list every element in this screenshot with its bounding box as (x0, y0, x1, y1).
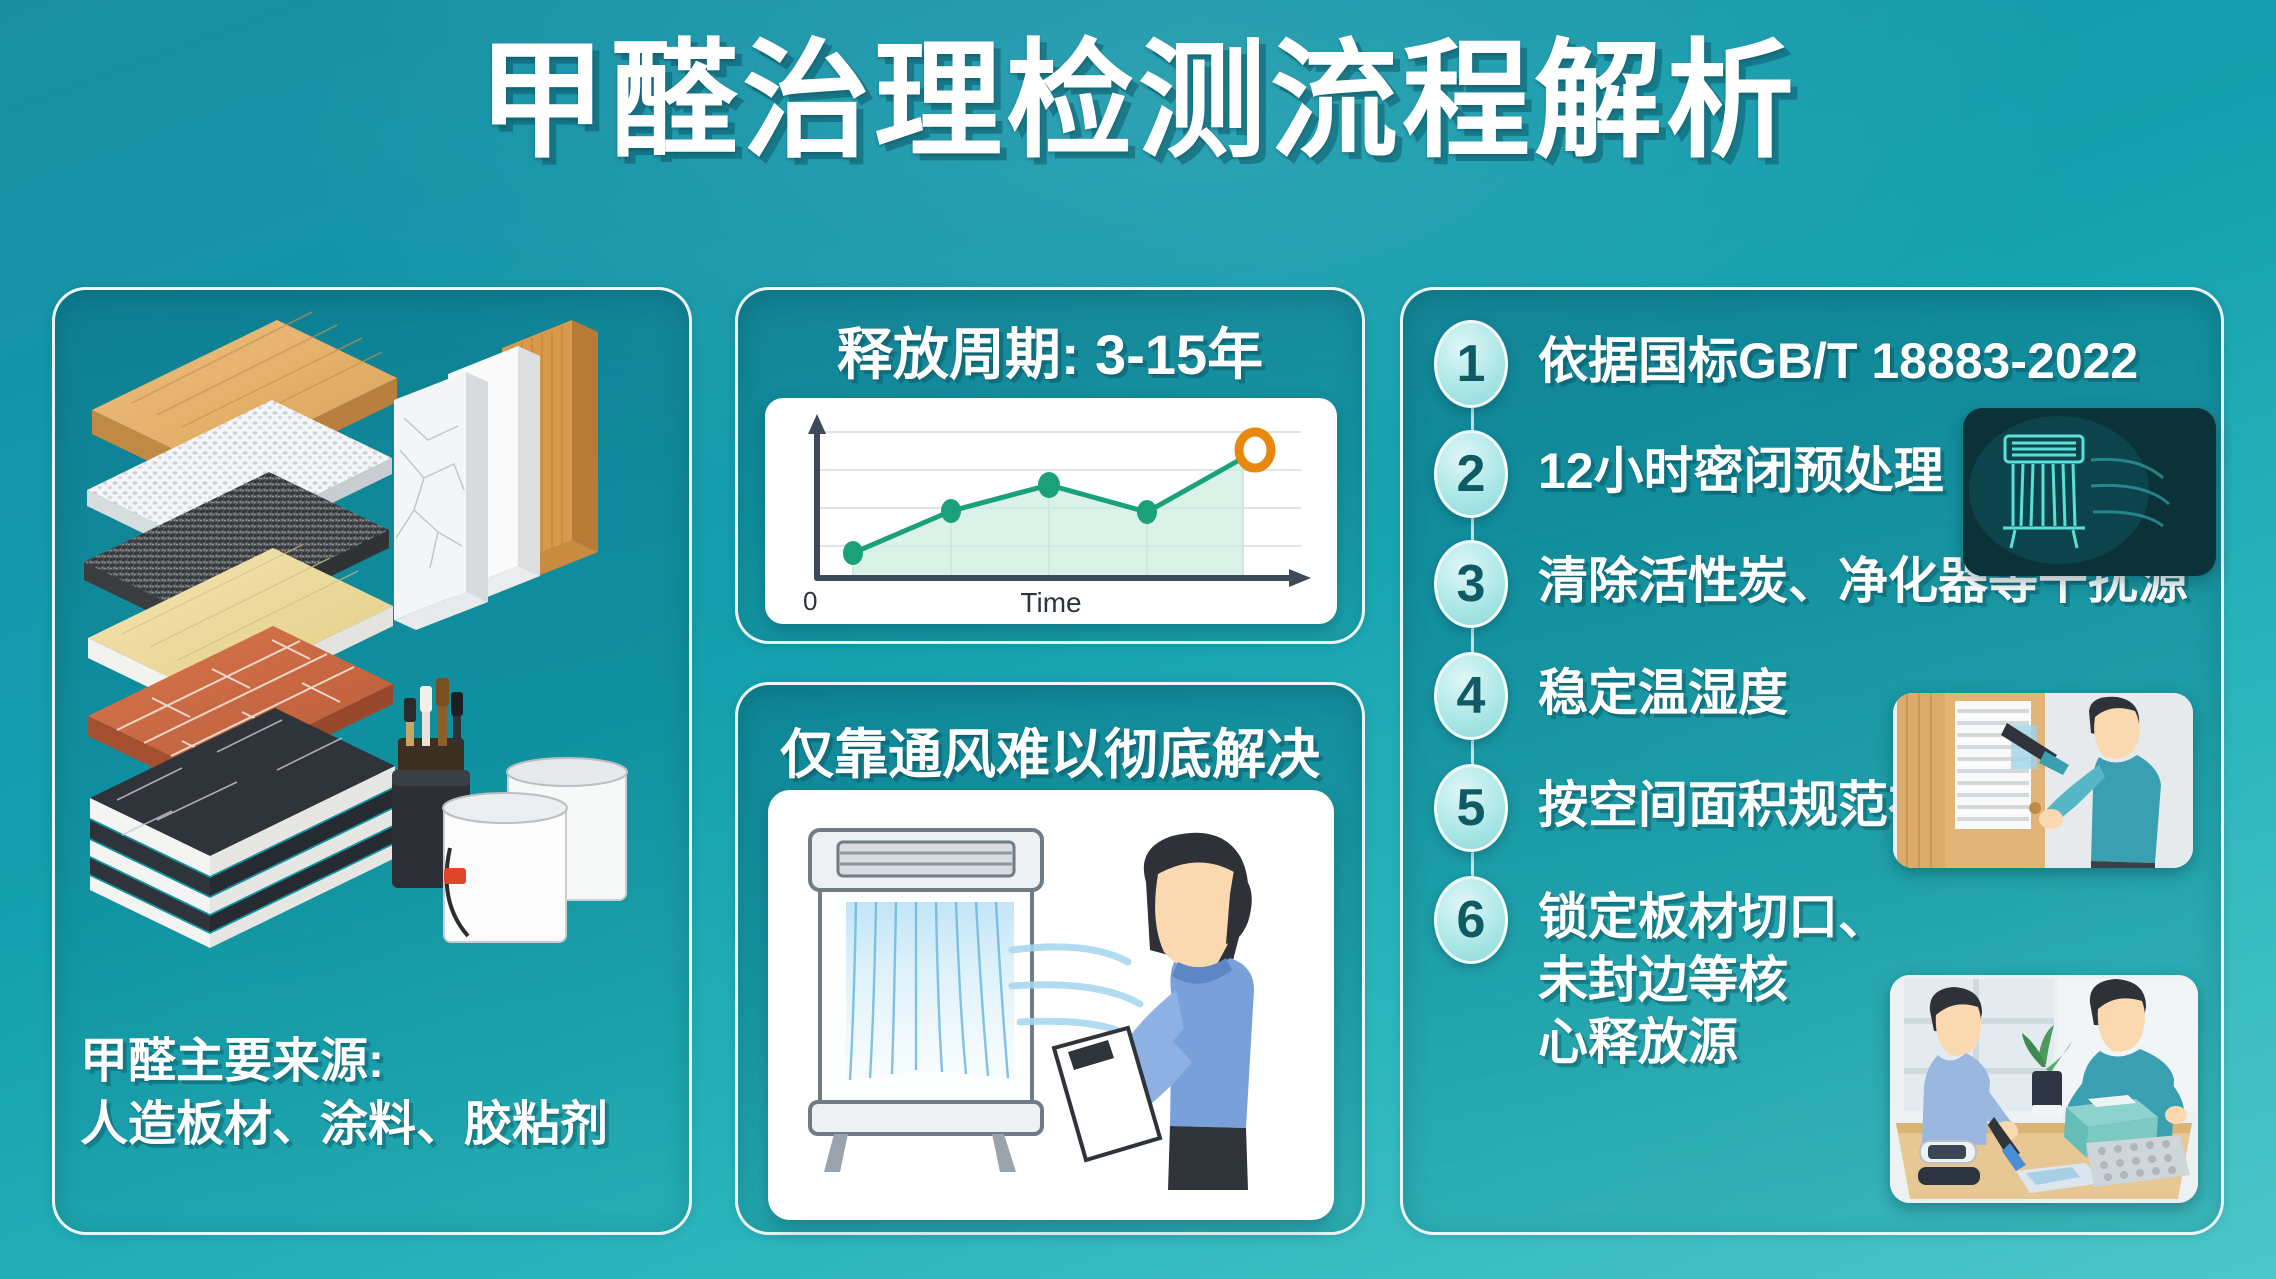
sources-caption: 甲醛主要来源: 人造板材、涂料、胶粘剂 (80, 1030, 680, 1157)
chart-origin-label: 0 (803, 586, 817, 616)
step-item-6[interactable]: 6 锁定板材切口、 未封边等核 心释放源 (1434, 876, 1888, 1074)
step-badge-5: 5 (1434, 764, 1508, 852)
release-cycle-heading: 释放周期: 3-15年 (735, 310, 1365, 391)
chart-xlabel: Time (1020, 587, 1081, 618)
lab-sampling-thumb (1890, 975, 2198, 1203)
step-badge-3: 3 (1434, 540, 1508, 628)
door-inspection-thumb (1893, 693, 2193, 868)
neon-air-purifier-thumb (1963, 408, 2216, 576)
release-cycle-chart-card: 0 Time (765, 398, 1337, 624)
step-item-4[interactable]: 4 稳定温湿度 (1434, 652, 1788, 740)
inspector-figure (1054, 833, 1254, 1190)
vertical-panel-marble-slab (394, 372, 488, 630)
step-item-1[interactable]: 1 依据国标GB/T 18883-2022 (1434, 320, 2138, 408)
step-badge-2: 2 (1434, 430, 1508, 518)
step-badge-4: 4 (1434, 652, 1508, 740)
page-title: 甲醛治理检测流程解析 (0, 28, 2276, 175)
step-label-4: 稳定温湿度 (1538, 652, 1788, 725)
step-label-2: 12小时密闭预处理 (1538, 430, 1944, 503)
ventilation-heading: 仅靠通风难以彻底解决 (735, 710, 1365, 789)
paint-bucket-front (443, 793, 567, 942)
layered-materials-illustration (62, 300, 682, 1000)
air-purifier-inspector-illustration (768, 790, 1334, 1220)
chart-x-axis-arrow (1289, 569, 1311, 587)
chart-highlight-ring (1239, 432, 1271, 468)
sources-caption-line1: 甲醛主要来源: (80, 1030, 680, 1093)
step-badge-6: 6 (1434, 876, 1508, 964)
step-badge-1: 1 (1434, 320, 1508, 408)
chart-y-axis-arrow (808, 414, 826, 434)
step-label-1: 依据国标GB/T 18883-2022 (1538, 320, 2138, 393)
ventilation-illustration-card (768, 790, 1334, 1220)
step-item-2[interactable]: 2 12小时密闭预处理 (1434, 430, 1944, 518)
sources-caption-line2: 人造板材、涂料、胶粘剂 (80, 1093, 680, 1156)
step-label-6: 锁定板材切口、 未封边等核 心释放源 (1538, 876, 1888, 1074)
release-cycle-line-chart: 0 Time (765, 398, 1337, 624)
